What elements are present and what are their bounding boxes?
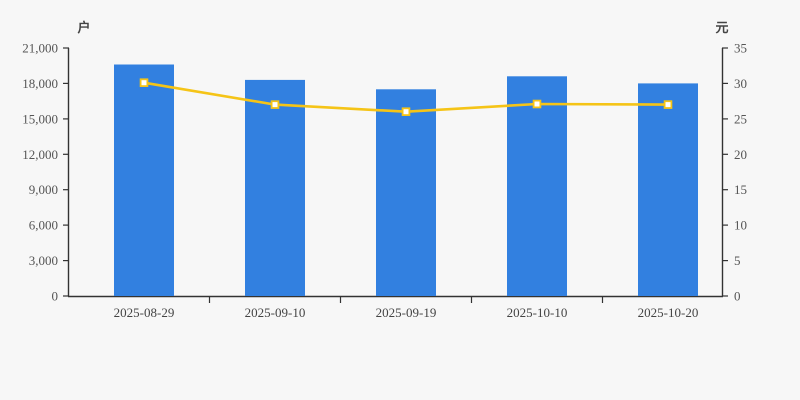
x-category-label-4: 2025-10-20 (638, 305, 699, 320)
right-tick-label-7: 35 (734, 41, 747, 56)
right-tick-label-4: 20 (734, 147, 747, 162)
x-category-label-2: 2025-09-19 (376, 305, 437, 320)
left-tick-label-3: 9,000 (29, 182, 58, 197)
left-tick-label-7: 21,000 (22, 41, 58, 56)
right-tick-label-6: 30 (734, 76, 747, 91)
x-category-label-1: 2025-09-10 (245, 305, 306, 320)
left-axis-unit-label: 户 (77, 20, 90, 35)
bar-1[interactable] (245, 80, 305, 296)
left-tick-label-5: 15,000 (22, 111, 58, 126)
left-tick-label-2: 6,000 (29, 218, 58, 233)
line-marker-3[interactable] (534, 101, 541, 108)
left-tick-label-1: 3,000 (29, 253, 58, 268)
bar-2[interactable] (376, 89, 436, 296)
left-tick-label-4: 12,000 (22, 147, 58, 162)
right-tick-label-2: 10 (734, 218, 747, 233)
bar-3[interactable] (507, 76, 567, 296)
left-tick-label-6: 18,000 (22, 76, 58, 91)
right-tick-label-0: 0 (734, 289, 741, 304)
chart-container: 户 0 3,000 6,000 9,000 12,000 15,000 18,0… (0, 0, 800, 400)
right-axis-unit-label: 元 (715, 20, 728, 35)
right-tick-label-1: 5 (734, 253, 741, 268)
x-category-label-3: 2025-10-10 (507, 305, 568, 320)
left-tick-label-0: 0 (52, 289, 59, 304)
bar-4[interactable] (638, 83, 698, 296)
line-marker-2[interactable] (403, 108, 410, 115)
line-marker-1[interactable] (272, 101, 279, 108)
line-marker-0[interactable] (141, 79, 148, 86)
bar-0[interactable] (114, 65, 174, 297)
x-category-label-0: 2025-08-29 (114, 305, 175, 320)
right-tick-label-3: 15 (734, 182, 747, 197)
shareholder-count-chart: 户 0 3,000 6,000 9,000 12,000 15,000 18,0… (0, 0, 800, 400)
line-marker-4[interactable] (665, 101, 672, 108)
right-tick-label-5: 25 (734, 111, 747, 126)
